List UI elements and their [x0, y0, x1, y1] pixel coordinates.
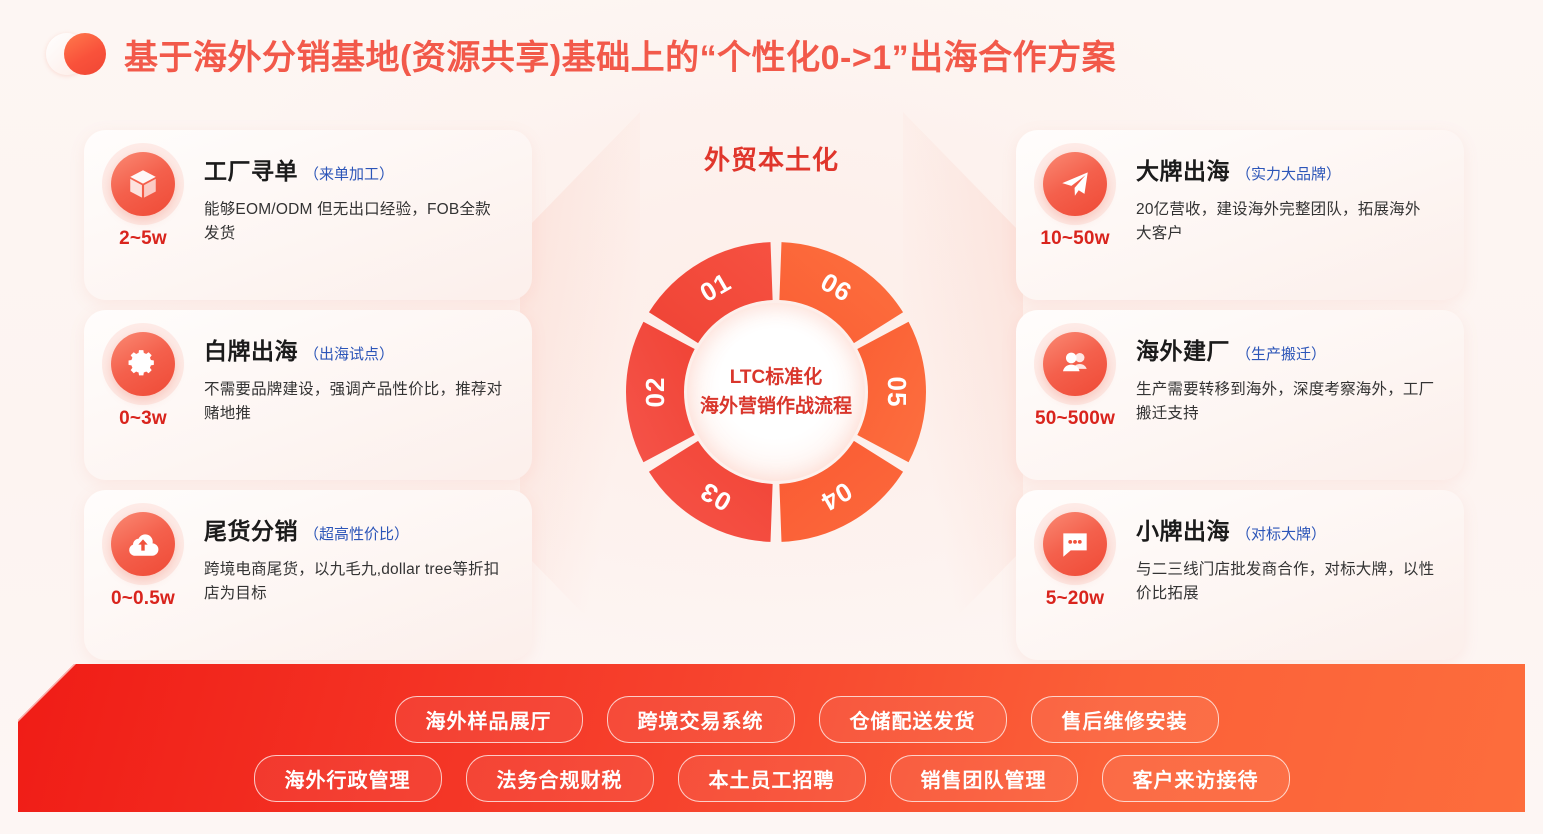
card-subtitle: （对标大牌）: [1236, 523, 1326, 544]
gear-icon: [111, 332, 175, 396]
logo-front-circle: [64, 33, 106, 75]
service-pill-row-2: 海外行政管理法务合规财税本土员工招聘销售团队管理客户来访接待: [18, 755, 1525, 802]
card-title: 小牌出海: [1136, 512, 1230, 546]
card-title: 白牌出海: [204, 332, 298, 366]
card-overseas-factory[interactable]: 50~500w 海外建厂 （生产搬迁） 生产需要转移到海外，深度考察海外，工厂搬…: [1016, 310, 1464, 480]
chat-bubble-icon: [1043, 512, 1107, 576]
service-pill[interactable]: 客户来访接待: [1102, 755, 1290, 802]
card-description: 跨境电商尾货，以九毛九,dollar tree等折扣店为目标: [204, 558, 504, 606]
donut-center-label: LTC标准化 海外营销作战流程: [687, 303, 865, 481]
service-pill[interactable]: 法务合规财税: [466, 755, 654, 802]
card-icon-column: 50~500w: [1016, 310, 1134, 430]
donut-segment-label-05: 05: [882, 377, 912, 408]
card-overstock-distribution[interactable]: 0~0.5w 尾货分销 （超高性价比） 跨境电商尾货，以九毛九,dollar t…: [84, 490, 532, 660]
card-icon-column: 5~20w: [1016, 490, 1134, 610]
card-icon-column: 0~3w: [84, 310, 202, 430]
card-description: 能够EOM/ODM 但无出口经验，FOB全款发货: [204, 198, 504, 246]
core-line-1: LTC标准化: [730, 363, 823, 392]
card-description: 与二三线门店批发商合作，对标大牌，以性价比拓展: [1136, 558, 1436, 606]
card-description: 不需要品牌建设，强调产品性价比，推荐对赌地推: [204, 378, 504, 426]
card-body: 尾货分销 （超高性价比） 跨境电商尾货，以九毛九,dollar tree等折扣店…: [202, 490, 532, 606]
card-subtitle: （超高性价比）: [304, 523, 409, 544]
service-pill[interactable]: 售后维修安装: [1031, 696, 1219, 743]
service-pill[interactable]: 仓储配送发货: [819, 696, 1007, 743]
card-title: 尾货分销: [204, 512, 298, 546]
service-pill[interactable]: 海外样品展厅: [395, 696, 583, 743]
donut-segment-label-02: 02: [640, 377, 670, 408]
price-badge: 50~500w: [1035, 408, 1115, 430]
card-heading: 海外建厂 （生产搬迁）: [1136, 332, 1446, 366]
card-heading: 小牌出海 （对标大牌）: [1136, 512, 1446, 546]
center-heading: 外贸本土化: [0, 140, 1543, 177]
service-pill[interactable]: 本土员工招聘: [678, 755, 866, 802]
cloud-upload-icon: [111, 512, 175, 576]
service-pill[interactable]: 跨境交易系统: [607, 696, 795, 743]
card-body: 小牌出海 （对标大牌） 与二三线门店批发商合作，对标大牌，以性价比拓展: [1134, 490, 1464, 606]
card-heading: 白牌出海 （出海试点）: [204, 332, 514, 366]
ltc-donut-chart: 010203040506 LTC标准化 海外营销作战流程: [596, 212, 956, 572]
card-subtitle: （出海试点）: [304, 343, 394, 364]
price-badge: 0~0.5w: [111, 588, 175, 610]
brand-logo-icon: [46, 31, 108, 77]
service-pill[interactable]: 销售团队管理: [890, 755, 1078, 802]
card-title: 海外建厂: [1136, 332, 1230, 366]
card-white-label-export[interactable]: 0~3w 白牌出海 （出海试点） 不需要品牌建设，强调产品性价比，推荐对赌地推: [84, 310, 532, 480]
service-pill-row-1: 海外样品展厅跨境交易系统仓储配送发货售后维修安装: [18, 696, 1525, 743]
page-header: 基于海外分销基地(资源共享)基础上的“个性化0->1”出海合作方案: [0, 0, 1543, 108]
bottom-services-bar: 海外样品展厅跨境交易系统仓储配送发货售后维修安装 海外行政管理法务合规财税本土员…: [18, 664, 1525, 812]
price-badge: 2~5w: [119, 228, 167, 250]
core-line-2: 海外营销作战流程: [700, 392, 852, 421]
price-badge: 5~20w: [1046, 588, 1105, 610]
card-description: 20亿营收，建设海外完整团队，拓展海外大客户: [1136, 198, 1436, 246]
card-small-brand-export[interactable]: 5~20w 小牌出海 （对标大牌） 与二三线门店批发商合作，对标大牌，以性价比拓…: [1016, 490, 1464, 660]
card-heading: 尾货分销 （超高性价比）: [204, 512, 514, 546]
card-icon-column: 0~0.5w: [84, 490, 202, 610]
card-body: 海外建厂 （生产搬迁） 生产需要转移到海外，深度考察海外，工厂搬迁支持: [1134, 310, 1464, 426]
price-badge: 10~50w: [1040, 228, 1109, 250]
card-body: 白牌出海 （出海试点） 不需要品牌建设，强调产品性价比，推荐对赌地推: [202, 310, 532, 426]
card-description: 生产需要转移到海外，深度考察海外，工厂搬迁支持: [1136, 378, 1436, 426]
page-title: 基于海外分销基地(资源共享)基础上的“个性化0->1”出海合作方案: [124, 30, 1116, 79]
poster-root: 基于海外分销基地(资源共享)基础上的“个性化0->1”出海合作方案 2~5w 工…: [0, 0, 1543, 834]
users-icon: [1043, 332, 1107, 396]
price-badge: 0~3w: [119, 408, 167, 430]
card-subtitle: （生产搬迁）: [1236, 343, 1326, 364]
service-pill[interactable]: 海外行政管理: [254, 755, 442, 802]
